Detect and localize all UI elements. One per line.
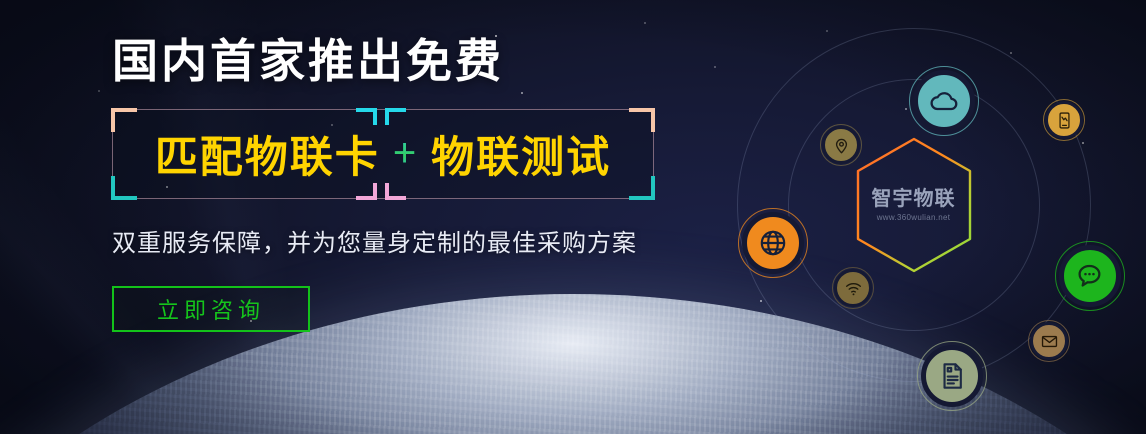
brand-label: 智宇物联 www.360wulian.net: [853, 136, 975, 274]
pin-node[interactable]: [822, 126, 860, 164]
iot-network-graphic: 智宇物联 www.360wulian.net: [681, 0, 1146, 434]
wifi-icon: [844, 279, 863, 298]
envelope-icon: [1040, 332, 1059, 351]
chat-node[interactable]: [1059, 245, 1121, 307]
chat-icon: [1074, 260, 1106, 292]
consult-now-button[interactable]: 立即咨询: [112, 286, 310, 332]
wifi-node[interactable]: [834, 269, 872, 307]
copy-block: 国内首家推出免费 匹配物联卡 + 物联测试 双重服务保障，并为您量身定制的最佳采…: [112, 36, 692, 332]
mobile-device-icon: [1055, 111, 1074, 130]
feature-left-text: 匹配物联卡: [155, 123, 380, 185]
subheadline: 双重服务保障，并为您量身定制的最佳采购方案: [112, 223, 692, 258]
feature-title: 匹配物联卡 + 物联测试: [113, 110, 653, 198]
promo-banner: 国内首家推出免费 匹配物联卡 + 物联测试 双重服务保障，并为您量身定制的最佳采…: [0, 0, 1146, 434]
headline: 国内首家推出免费: [112, 36, 692, 87]
brand-url: www.360wulian.net: [877, 213, 951, 222]
feature-right-text: 物联测试: [431, 123, 611, 185]
brand-name: 智宇物联: [872, 189, 956, 209]
document-icon: [936, 360, 968, 392]
document-node[interactable]: [921, 345, 983, 407]
globe-node[interactable]: [742, 212, 804, 274]
cloud-node[interactable]: [913, 70, 975, 132]
globe-icon: [757, 227, 789, 259]
brand-hexagon: 智宇物联 www.360wulian.net: [853, 136, 975, 274]
plus-symbol: +: [393, 131, 418, 176]
location-pin-icon: [832, 136, 851, 155]
mail-node[interactable]: [1030, 322, 1068, 360]
cloud-icon: [928, 85, 960, 117]
device-node[interactable]: [1045, 101, 1083, 139]
feature-frame: 匹配物联卡 + 物联测试: [112, 109, 654, 199]
